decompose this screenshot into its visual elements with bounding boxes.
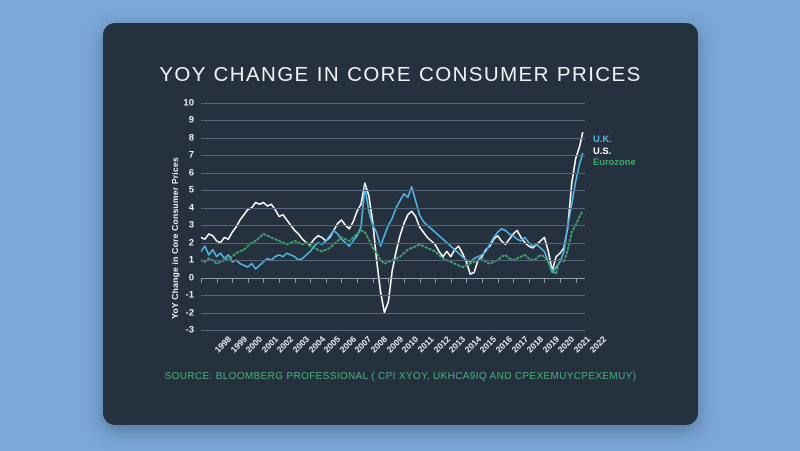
y-axis-tick-label: 7 bbox=[189, 150, 194, 161]
x-axis-tick bbox=[498, 278, 499, 283]
gridline bbox=[201, 173, 585, 174]
x-axis-tick bbox=[560, 278, 561, 283]
x-axis-tick bbox=[279, 278, 280, 283]
gridline bbox=[201, 260, 585, 261]
x-axis-tick bbox=[201, 278, 202, 283]
y-axis-tick-label: 1 bbox=[189, 255, 194, 266]
gridline bbox=[201, 243, 585, 244]
x-axis-tick bbox=[248, 278, 249, 283]
x-axis-tick-label: 2022 bbox=[587, 334, 608, 355]
y-axis-tick-label: -2 bbox=[186, 307, 194, 318]
gridline bbox=[201, 103, 585, 104]
y-axis-tick-label: 10 bbox=[183, 98, 194, 109]
gridline bbox=[201, 313, 585, 314]
y-axis-tick-label: 3 bbox=[189, 220, 194, 231]
legend-item-us: U.S. bbox=[593, 145, 636, 157]
x-axis-tick bbox=[232, 278, 233, 283]
series-line-us bbox=[201, 133, 583, 313]
x-axis-tick bbox=[326, 278, 327, 283]
y-axis-tick-label: -3 bbox=[186, 325, 194, 336]
plot-area: 109876543210-1-2-3 199819992000200120022… bbox=[201, 103, 585, 330]
x-axis-tick bbox=[341, 278, 342, 283]
gridline bbox=[201, 330, 585, 331]
y-axis-tick-label: 5 bbox=[189, 185, 194, 196]
source-note: SOURCE: BLOOMBERG PROFESSIONAL ( CPI XYO… bbox=[103, 371, 698, 382]
x-axis-tick bbox=[295, 278, 296, 283]
x-axis-tick bbox=[451, 278, 452, 283]
x-axis-tick bbox=[357, 278, 358, 283]
gridline bbox=[201, 138, 585, 139]
y-axis-tick-label: 4 bbox=[189, 202, 194, 213]
gridline bbox=[201, 120, 585, 121]
x-axis-tick bbox=[576, 278, 577, 283]
x-axis-tick bbox=[263, 278, 264, 283]
gridline bbox=[201, 155, 585, 156]
gridline bbox=[201, 295, 585, 296]
x-axis-tick bbox=[373, 278, 374, 283]
y-axis-title: YoY Change in Core Consumer Prices bbox=[170, 157, 180, 319]
gridline bbox=[201, 225, 585, 226]
x-axis-tick bbox=[529, 278, 530, 283]
x-axis-tick bbox=[404, 278, 405, 283]
y-axis-tick-label: 8 bbox=[189, 132, 194, 143]
chart-card: YOY CHANGE IN CORE CONSUMER PRICES YoY C… bbox=[103, 23, 698, 425]
page-title: YOY CHANGE IN CORE CONSUMER PRICES bbox=[103, 63, 698, 87]
legend-item-eurozone: Eurozone bbox=[593, 156, 636, 168]
x-axis-line bbox=[201, 278, 585, 280]
x-axis-tick bbox=[544, 278, 545, 283]
x-axis-tick bbox=[388, 278, 389, 283]
x-axis-tick bbox=[217, 278, 218, 283]
legend-item-uk: U.K. bbox=[593, 133, 636, 145]
x-axis-tick-label: 2011 bbox=[415, 334, 435, 354]
gridline bbox=[201, 208, 585, 209]
y-axis-tick-label: -1 bbox=[186, 290, 194, 301]
x-axis-tick bbox=[482, 278, 483, 283]
x-axis-tick bbox=[466, 278, 467, 283]
x-axis-tick bbox=[435, 278, 436, 283]
y-axis-tick-label: 0 bbox=[189, 272, 194, 283]
y-axis-tick-label: 9 bbox=[189, 115, 194, 126]
gridline bbox=[201, 190, 585, 191]
x-axis-tick bbox=[310, 278, 311, 283]
x-axis-tick bbox=[420, 278, 421, 283]
y-axis-tick-label: 2 bbox=[189, 237, 194, 248]
y-axis-tick-label: 6 bbox=[189, 167, 194, 178]
x-axis-tick bbox=[513, 278, 514, 283]
legend: U.K.U.S.Eurozone bbox=[593, 133, 636, 168]
